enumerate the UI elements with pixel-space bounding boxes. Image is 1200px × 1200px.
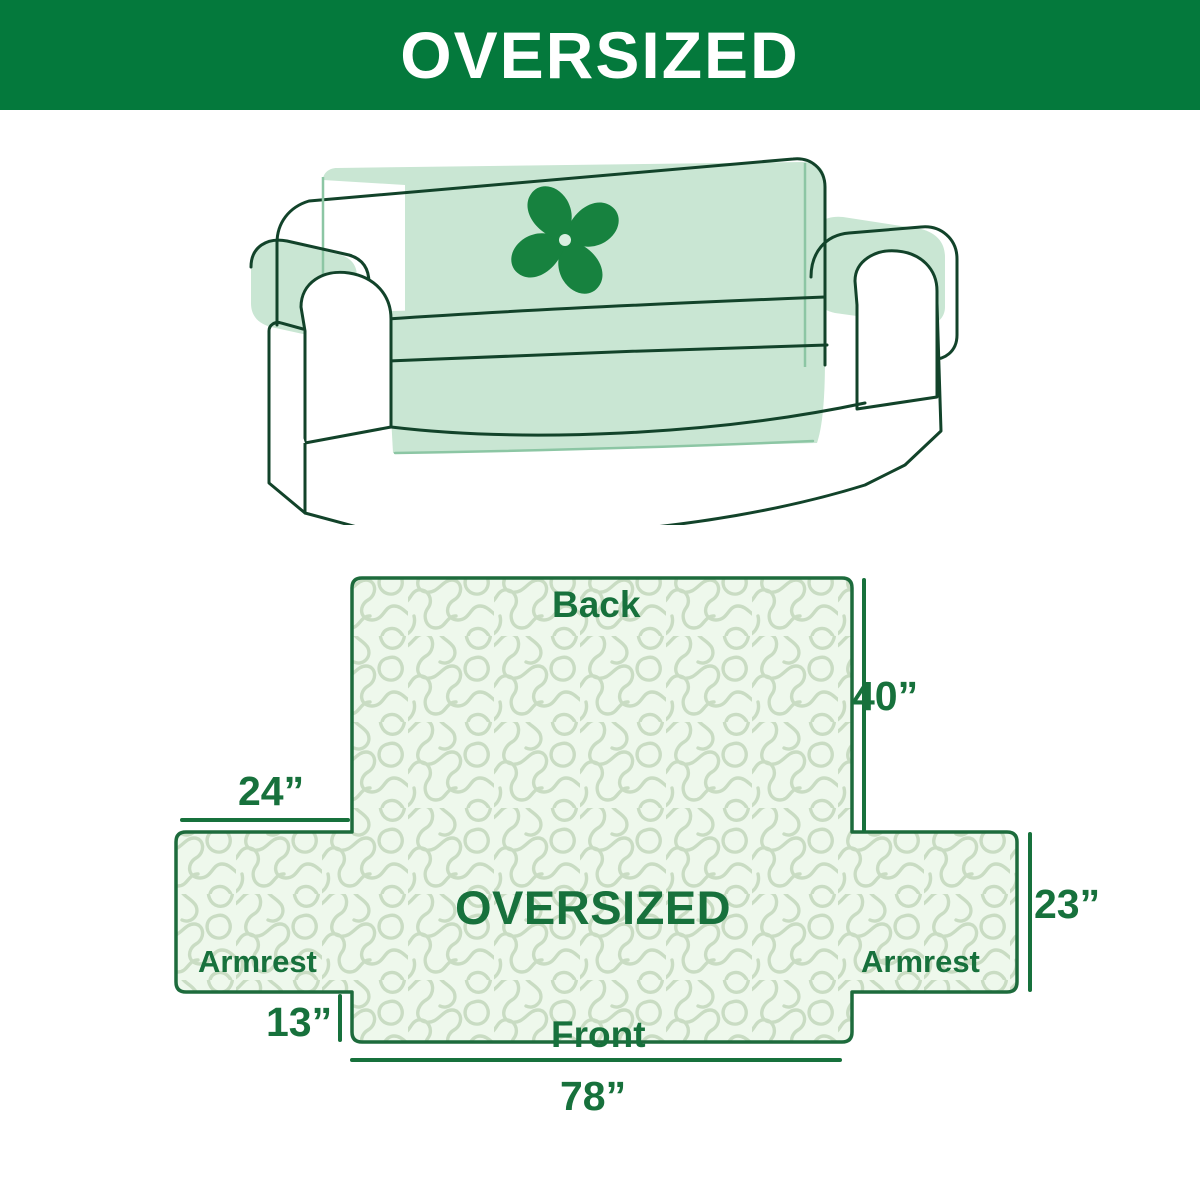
panel-label-armrest-left: Armrest xyxy=(198,946,317,977)
sofa-left-arm-scroll xyxy=(301,272,391,443)
sofa-illustration xyxy=(245,135,975,525)
dimension-label-front-offset: 13” xyxy=(266,1002,332,1043)
dimension-label-total-width: 78” xyxy=(560,1076,626,1117)
dimension-label-back-height: 40” xyxy=(852,676,918,717)
header-banner: OVERSIZED xyxy=(0,0,1200,110)
sofa-front-cover-fill xyxy=(388,357,825,453)
sofa-base-outline xyxy=(305,465,905,525)
product-size-diagram-page: OVERSIZED xyxy=(0,0,1200,1200)
page-title: OVERSIZED xyxy=(400,22,799,88)
pattern-center-label: OVERSIZED xyxy=(455,884,731,931)
dimension-label-back-offset: 24” xyxy=(238,771,304,812)
sofa-right-arm-scroll xyxy=(855,251,937,409)
sofa-left-arm-front-panel xyxy=(269,331,305,513)
panel-label-front: Front xyxy=(551,1016,646,1053)
panel-label-back: Back xyxy=(552,586,640,623)
panel-label-armrest-right: Armrest xyxy=(861,946,980,977)
dimension-label-armrest-height: 23” xyxy=(1034,884,1100,925)
